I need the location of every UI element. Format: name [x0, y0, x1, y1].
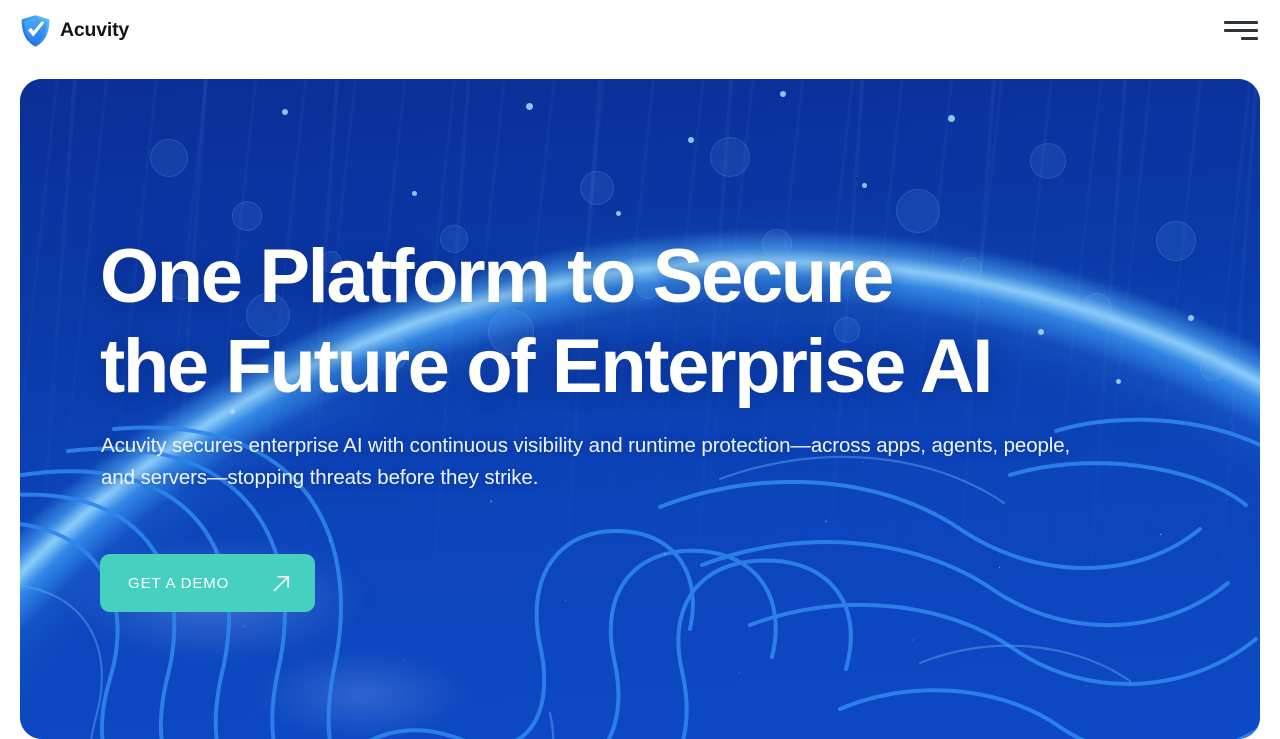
- brand-name: Acuvity: [60, 21, 129, 41]
- arrow-up-right-icon: [273, 575, 290, 592]
- site-header: Acuvity: [0, 0, 1280, 61]
- page-title: One Platform to Secure the Future of Ent…: [100, 232, 991, 413]
- brand-logo-link[interactable]: Acuvity: [20, 14, 129, 48]
- menu-bar-2: [1224, 29, 1258, 32]
- menu-bar-1: [1224, 21, 1258, 24]
- hero-banner: One Platform to Secure the Future of Ent…: [20, 79, 1260, 739]
- shield-check-icon: [20, 14, 51, 48]
- cta-label: GET A DEMO: [128, 576, 229, 591]
- hamburger-menu-icon[interactable]: [1224, 18, 1258, 44]
- hero-content: One Platform to Secure the Future of Ent…: [100, 79, 1100, 739]
- get-a-demo-button[interactable]: GET A DEMO: [100, 554, 315, 612]
- hero-subtitle: Acuvity secures enterprise AI with conti…: [101, 430, 1076, 495]
- menu-bar-3: [1241, 37, 1258, 40]
